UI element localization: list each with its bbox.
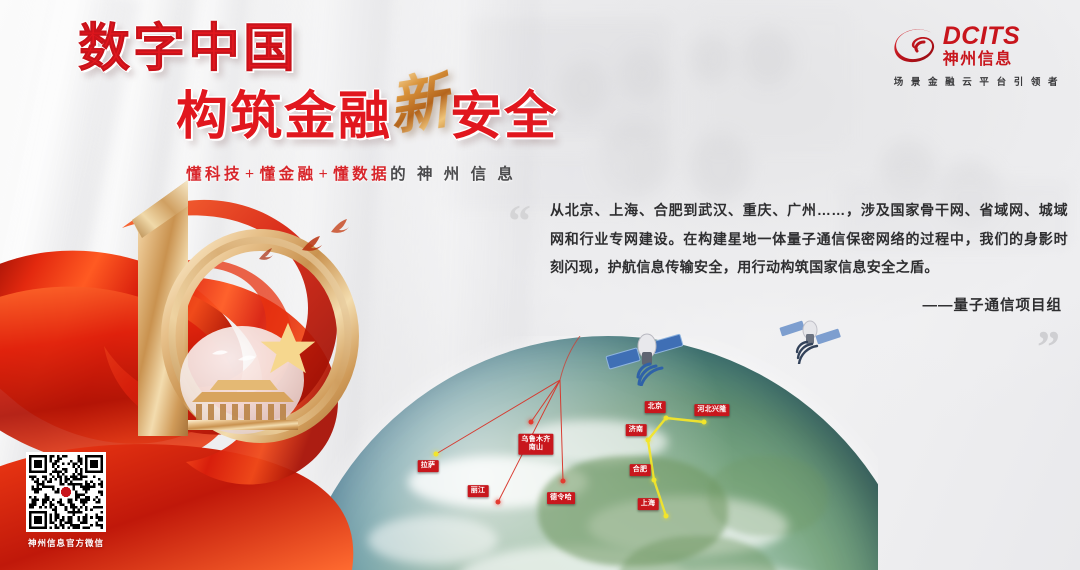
city-label: 河北兴隆 <box>694 404 729 416</box>
qr-caption: 神州信息官方微信 <box>18 537 114 549</box>
title-line-2: 构筑金融新安全 <box>176 81 558 146</box>
city-label: 北京 <box>645 401 666 413</box>
city-label: 上海 <box>638 498 659 510</box>
logo-name-cn: 神州信息 <box>943 52 1021 68</box>
city-label: 乌鲁木齐 南山 <box>518 434 553 455</box>
dcits-logo[interactable]: DCITS 神州信息 场 景 金 融 云 平 台 引 领 者 <box>894 24 1060 88</box>
logo-name-en: DCITS <box>943 24 1021 49</box>
wechat-qr-block[interactable]: 神州信息官方微信 <box>18 452 114 549</box>
quote-body: 从北京、上海、合肥到武汉、重庆、广州……，涉及国家骨干网、省域网、城域网和行业专… <box>550 196 1068 282</box>
quote-close-mark: ” <box>1037 324 1060 370</box>
city-label: 丽江 <box>468 485 489 497</box>
title-line-2-gold-char: 新 <box>384 67 457 141</box>
subtitle-seg-3: 懂数据 <box>333 166 390 183</box>
bird-icon <box>258 246 282 262</box>
map-node <box>664 514 669 519</box>
bird-icon <box>330 216 360 236</box>
map-node <box>529 420 534 425</box>
quote-open-mark: “ <box>508 198 531 244</box>
logo-row: DCITS 神州信息 <box>894 24 1060 68</box>
subtitle-seg-2: 懂金融 <box>260 166 317 183</box>
subtitle-seg-4: 的 神 州 信 息 <box>390 166 516 183</box>
map-node <box>434 452 439 457</box>
subtitle: 懂科技+懂金融+懂数据的 神 州 信 息 <box>186 162 516 184</box>
city-label: 拉萨 <box>418 460 439 472</box>
map-node <box>561 479 566 484</box>
title-line-2-part-2: 安全 <box>450 88 558 146</box>
map-node <box>496 500 501 505</box>
map-node <box>664 416 669 421</box>
logo-tagline: 场 景 金 融 云 平 台 引 领 者 <box>894 74 1060 88</box>
map-node <box>646 438 651 443</box>
city-node-layer: 拉萨丽江乌鲁木齐 南山德令哈济南北京河北兴隆合肥上海 <box>318 336 878 570</box>
city-label: 济南 <box>626 424 647 436</box>
title-line-2-part-1: 构筑金融 <box>176 88 392 146</box>
satellite-icon <box>604 312 690 386</box>
title-line-1: 数字中国 <box>78 22 558 77</box>
map-node <box>652 478 657 483</box>
anniversary-10-sculpture <box>92 158 362 458</box>
logo-text: DCITS 神州信息 <box>943 24 1021 68</box>
subtitle-plus-2: + <box>319 166 332 183</box>
subtitle-seg-1: 懂科技 <box>186 166 243 183</box>
city-label: 德令哈 <box>547 492 575 504</box>
title-block: 数字中国 构筑金融新安全 <box>78 22 558 146</box>
dcits-swoosh-icon <box>894 28 936 64</box>
quote-panel: “ 从北京、上海、合肥到武汉、重庆、广州……，涉及国家骨干网、省域网、城域网和行… <box>508 196 1068 315</box>
bird-icon <box>300 232 334 254</box>
poster-canvas: 拉萨丽江乌鲁木齐 南山德令哈济南北京河北兴隆合肥上海 <box>0 0 1080 570</box>
qr-code[interactable] <box>26 452 106 532</box>
map-node <box>702 420 707 425</box>
quote-attribution: ——量子通信项目组 <box>508 294 1068 315</box>
subtitle-plus-1: + <box>245 166 258 183</box>
city-label: 合肥 <box>630 464 651 476</box>
